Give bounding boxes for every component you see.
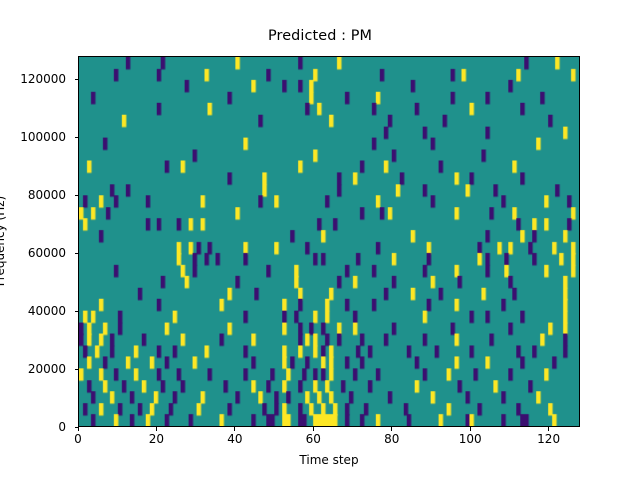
y-tick-mark (75, 137, 79, 138)
y-tick-label: 20000 (28, 362, 66, 376)
x-tick-label: 60 (306, 432, 321, 446)
page-title: Predicted : PM (0, 28, 640, 44)
x-tick-mark (234, 427, 235, 431)
x-tick-label: 40 (227, 432, 242, 446)
x-tick-label: 0 (74, 432, 82, 446)
heatmap-canvas (79, 57, 579, 426)
x-tick-mark (391, 427, 392, 431)
y-tick-mark (75, 195, 79, 196)
y-tick-mark (75, 311, 79, 312)
y-tick-mark (75, 79, 79, 80)
y-tick-label: 60000 (28, 246, 66, 260)
y-tick-label: 40000 (28, 304, 66, 318)
x-tick-mark (313, 427, 314, 431)
x-tick-label: 120 (537, 432, 560, 446)
y-tick-mark (75, 427, 79, 428)
y-tick-label: 100000 (20, 130, 66, 144)
matplotlib-figure: Predicted : PM 020406080100120 020000400… (0, 0, 640, 480)
x-tick-label: 100 (459, 432, 482, 446)
y-tick-label: 80000 (28, 188, 66, 202)
x-tick-mark (548, 427, 549, 431)
y-axis-label: Frequency (Hz) (0, 141, 7, 341)
x-axis-label: Time step (78, 453, 580, 467)
x-tick-label: 80 (384, 432, 399, 446)
x-tick-mark (470, 427, 471, 431)
y-tick-mark (75, 253, 79, 254)
x-tick-mark (156, 427, 157, 431)
y-tick-label: 0 (58, 420, 66, 434)
heatmap-axes (78, 56, 580, 427)
x-tick-label: 20 (149, 432, 164, 446)
y-tick-label: 120000 (20, 72, 66, 86)
y-tick-mark (75, 369, 79, 370)
